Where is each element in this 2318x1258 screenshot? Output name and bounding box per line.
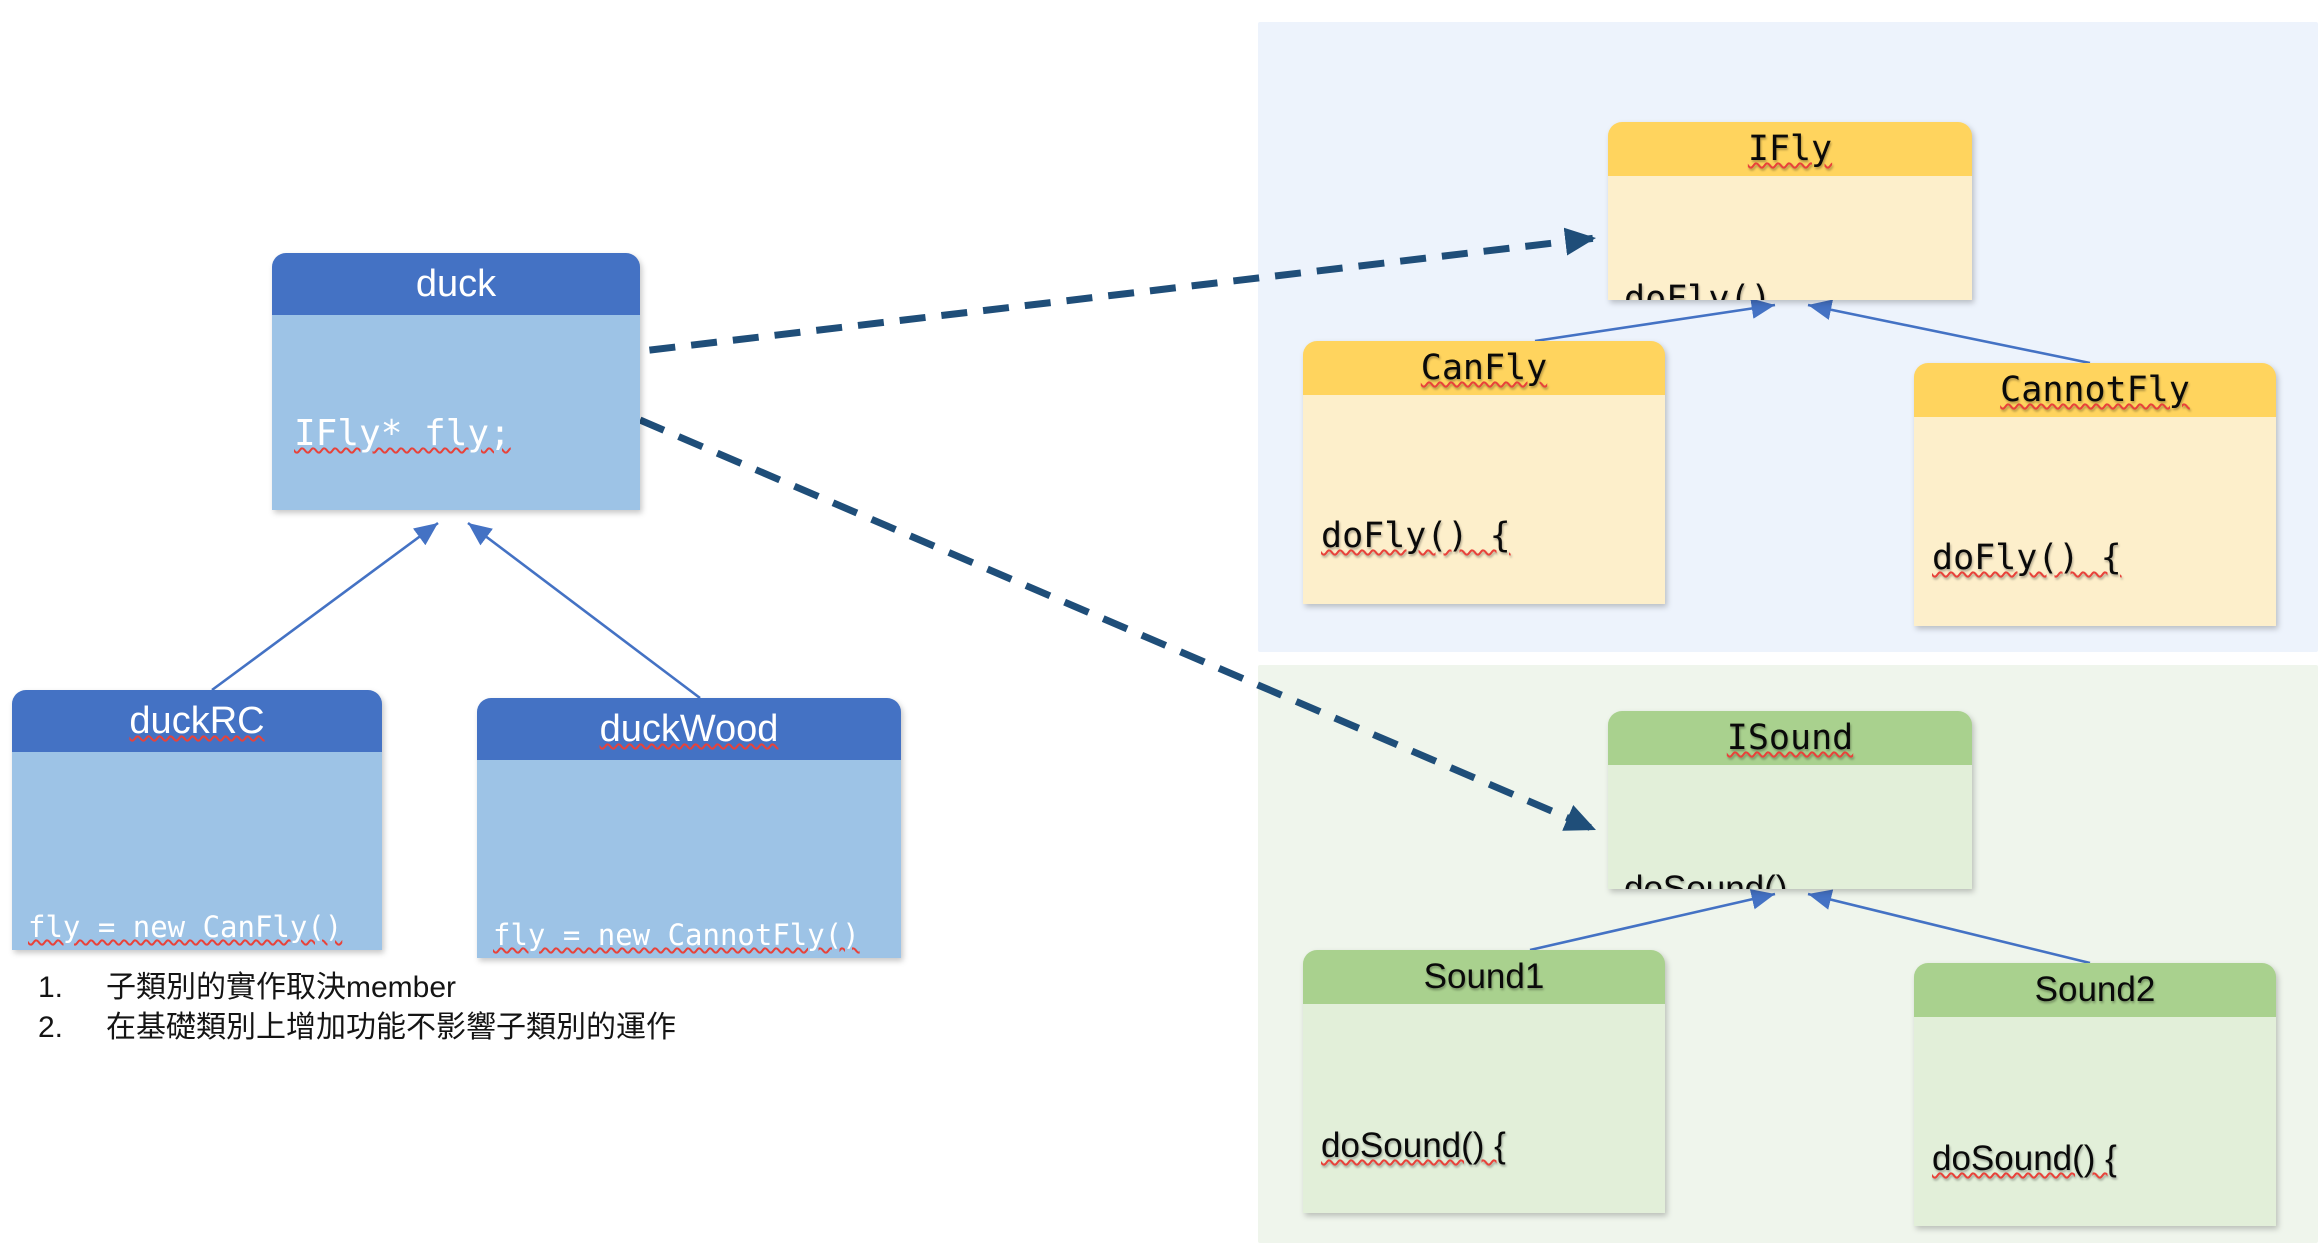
class-box-sound2[interactable]: Sound2 doSound() { “Sound2” } xyxy=(1914,963,2276,1226)
class-body-sound2: doSound() { “Sound2” } xyxy=(1914,1017,2276,1226)
note-text: 在基礎類別上增加功能不影響子類別的運作 xyxy=(106,1008,938,1048)
class-body-ifly: doFly() … xyxy=(1608,176,1972,300)
class-box-cannotfly[interactable]: CannotFly doFly() { “Cannot fly” } xyxy=(1914,363,2276,626)
class-body-sound1: doSound() { “Sound1” } xyxy=(1303,1004,1665,1213)
class-box-duckrc[interactable]: duckRC fly = new CanFly() xyxy=(12,690,382,950)
duckwood-assignment: fly = new CannotFly() xyxy=(493,918,901,952)
class-body-duckwood: fly = new CannotFly() xyxy=(477,760,901,958)
sound1-method-signature: doSound() { xyxy=(1321,1123,1665,1169)
class-box-duckwood[interactable]: duckWood fly = new CannotFly() xyxy=(477,698,901,958)
class-title-duck: duck xyxy=(272,253,640,315)
note-number: 2. xyxy=(38,1008,106,1048)
class-title-canfly: CanFly xyxy=(1303,341,1665,395)
class-body-canfly: doFly() { “Can fly” } xyxy=(1303,395,1665,604)
class-title-ifly: IFly xyxy=(1608,122,1972,176)
class-box-isound[interactable]: ISound doSound() … xyxy=(1608,711,1972,889)
note-item: 1. 子類別的實作取決member xyxy=(38,968,938,1008)
class-title-cannotfly: CannotFly xyxy=(1914,363,2276,417)
class-title-duckwood: duckWood xyxy=(477,698,901,760)
class-body-duck: IFly* fly; Isound* sound; … xyxy=(272,315,640,510)
class-title-sound2: Sound2 xyxy=(1914,963,2276,1017)
duck-member-fly: IFly* fly; xyxy=(294,413,640,455)
duckrc-assignment: fly = new CanFly() xyxy=(28,910,382,944)
isound-method-dosound: doSound() xyxy=(1624,866,1972,889)
class-title-duckrc: duckRC xyxy=(12,690,382,752)
connector-duckrc-to-duck xyxy=(212,523,438,690)
class-body-isound: doSound() … xyxy=(1608,765,1972,889)
note-item: 2. 在基礎類別上增加功能不影響子類別的運作 xyxy=(38,1008,938,1048)
note-text: 子類別的實作取決member xyxy=(106,968,938,1008)
cannotfly-method-signature: doFly() { xyxy=(1932,536,2276,582)
note-number: 1. xyxy=(38,968,106,1008)
class-body-cannotfly: doFly() { “Cannot fly” } xyxy=(1914,417,2276,626)
class-box-ifly[interactable]: IFly doFly() … xyxy=(1608,122,1972,300)
class-title-isound: ISound xyxy=(1608,711,1972,765)
class-box-canfly[interactable]: CanFly doFly() { “Can fly” } xyxy=(1303,341,1665,604)
ifly-method-dofly: doFly() xyxy=(1624,277,1972,300)
canfly-method-signature: doFly() { xyxy=(1321,514,1665,560)
sound2-method-signature: doSound() { xyxy=(1932,1136,2276,1182)
class-box-sound1[interactable]: Sound1 doSound() { “Sound1” } xyxy=(1303,950,1665,1213)
class-box-duck[interactable]: duck IFly* fly; Isound* sound; … xyxy=(272,253,640,510)
connector-duckwood-to-duck xyxy=(468,523,700,698)
notes-list: 1. 子類別的實作取決member 2. 在基礎類別上增加功能不影響子類別的運作 xyxy=(38,968,938,1048)
class-body-duckrc: fly = new CanFly() xyxy=(12,752,382,950)
class-title-sound1: Sound1 xyxy=(1303,950,1665,1004)
diagram-canvas: IFly (dependency, dashed) --> ISound (de… xyxy=(0,0,2318,1258)
